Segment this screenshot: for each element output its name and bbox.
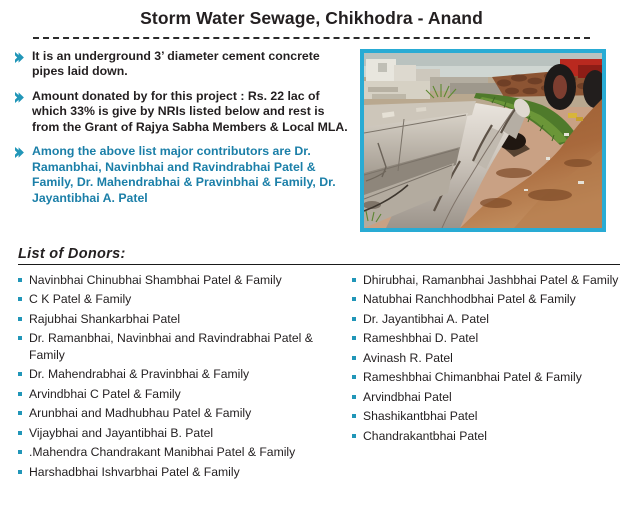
donor-name: Dr. Mahendrabhai & Pravinbhai & Family [29, 366, 249, 383]
bullet-item: It is an underground 3’ diameter cement … [14, 49, 352, 80]
list-item: Navinbhai Chinubhai Shambhai Patel & Fam… [18, 272, 346, 289]
square-bullet-icon [352, 375, 356, 379]
donor-name: .Mahendra Chandrakant Manibhai Patel & F… [29, 444, 295, 461]
list-item: Harshadbhai Ishvarbhai Patel & Family [18, 464, 346, 481]
list-item: Dr. Ramanbhai, Navinbhai and Ravindrabha… [18, 330, 346, 363]
slide-root: { "title": "Storm Water Sewage, Chikhodr… [0, 0, 623, 509]
bullet-list: It is an underground 3’ diameter cement … [0, 49, 352, 216]
bullet-text: Among the above list major contributors … [32, 144, 352, 206]
square-bullet-icon [352, 297, 356, 301]
square-bullet-icon [18, 392, 22, 396]
bullet-item: Amount donated by for this project : Rs.… [14, 89, 352, 136]
donor-name: Rameshbhai Chimanbhai Patel & Family [363, 369, 582, 386]
list-item: Arunbhai and Madhubhau Patel & Family [18, 405, 346, 422]
donor-name: Dhirubhai, Ramanbhai Jashbhai Patel & Fa… [363, 272, 618, 289]
square-bullet-icon [18, 450, 22, 454]
donor-name: Shashikantbhai Patel [363, 408, 478, 425]
list-item: Natubhai Ranchhodbhai Patel & Family [352, 291, 619, 308]
square-bullet-icon [18, 470, 22, 474]
donor-name: Navinbhai Chinubhai Shambhai Patel & Fam… [29, 272, 282, 289]
list-item: Chandrakantbhai Patel [352, 428, 619, 445]
list-item: Rameshbhai Chimanbhai Patel & Family [352, 369, 619, 386]
upper-section: It is an underground 3’ diameter cement … [0, 49, 623, 232]
square-bullet-icon [18, 278, 22, 282]
list-item: Dhirubhai, Ramanbhai Jashbhai Patel & Fa… [352, 272, 619, 289]
square-bullet-icon [18, 336, 22, 340]
donor-name: Dr. Jayantibhai A. Patel [363, 311, 489, 328]
square-bullet-icon [352, 395, 356, 399]
list-item: C K Patel & Family [18, 291, 346, 308]
square-bullet-icon [352, 278, 356, 282]
donor-name: Rameshbhai D. Patel [363, 330, 478, 347]
list-item: Arvindbhai C Patel & Family [18, 386, 346, 403]
title-dashed-divider [33, 37, 590, 39]
square-bullet-icon [18, 411, 22, 415]
square-bullet-icon [18, 372, 22, 376]
page-title: Storm Water Sewage, Chikhodra - Anand [0, 8, 623, 30]
list-item: Vijaybhai and Jayantibhai B. Patel [18, 425, 346, 442]
project-photograph [360, 49, 606, 232]
donors-heading: List of Donors: [18, 246, 620, 262]
square-bullet-icon [18, 297, 22, 301]
photograph-illustration [364, 53, 602, 228]
list-item: Dr. Mahendrabhai & Pravinbhai & Family [18, 366, 346, 383]
chevron-right-icon [14, 52, 28, 63]
bullet-text: It is an underground 3’ diameter cement … [32, 49, 352, 80]
bullet-text: Amount donated by for this project : Rs.… [32, 89, 352, 136]
square-bullet-icon [352, 414, 356, 418]
list-item: Arvindbhai Patel [352, 389, 619, 406]
donor-name: Natubhai Ranchhodbhai Patel & Family [363, 291, 576, 308]
donor-name: C K Patel & Family [29, 291, 131, 308]
list-item: Rajubhai Shankarbhai Patel [18, 311, 346, 328]
list-item: .Mahendra Chandrakant Manibhai Patel & F… [18, 444, 346, 461]
bullet-item: Among the above list major contributors … [14, 144, 352, 206]
title-block: Storm Water Sewage, Chikhodra - Anand [0, 0, 623, 39]
square-bullet-icon [352, 434, 356, 438]
donor-name: Arunbhai and Madhubhau Patel & Family [29, 405, 251, 422]
square-bullet-icon [18, 317, 22, 321]
square-bullet-icon [18, 431, 22, 435]
donor-column-left: Navinbhai Chinubhai Shambhai Patel & Fam… [18, 272, 352, 484]
donor-name: Harshadbhai Ishvarbhai Patel & Family [29, 464, 240, 481]
chevron-right-icon [14, 147, 28, 158]
list-item: Dr. Jayantibhai A. Patel [352, 311, 619, 328]
donor-name: Arvindbhai Patel [363, 389, 452, 406]
donors-heading-block: List of Donors: [0, 246, 623, 265]
square-bullet-icon [352, 317, 356, 321]
list-item: Shashikantbhai Patel [352, 408, 619, 425]
donor-columns: Navinbhai Chinubhai Shambhai Patel & Fam… [0, 272, 623, 484]
donor-name: Arvindbhai C Patel & Family [29, 386, 181, 403]
donor-name: Vijaybhai and Jayantibhai B. Patel [29, 425, 213, 442]
donors-heading-rule [18, 264, 620, 265]
donor-name: Rajubhai Shankarbhai Patel [29, 311, 180, 328]
list-item: Rameshbhai D. Patel [352, 330, 619, 347]
donor-name: Dr. Ramanbhai, Navinbhai and Ravindrabha… [29, 330, 346, 363]
list-item: Avinash R. Patel [352, 350, 619, 367]
donor-column-right: Dhirubhai, Ramanbhai Jashbhai Patel & Fa… [352, 272, 619, 484]
donor-name: Avinash R. Patel [363, 350, 453, 367]
square-bullet-icon [352, 356, 356, 360]
donor-name: Chandrakantbhai Patel [363, 428, 487, 445]
chevron-right-icon [14, 92, 28, 103]
square-bullet-icon [352, 336, 356, 340]
